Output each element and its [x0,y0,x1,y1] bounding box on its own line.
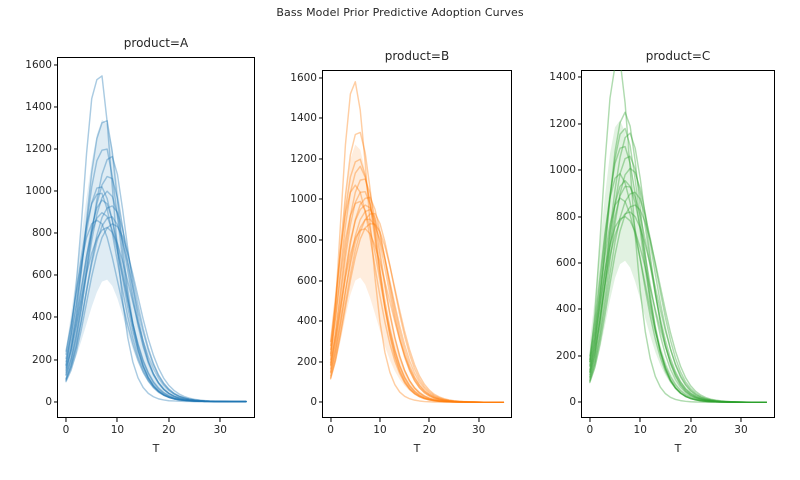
x-tick-mark [589,418,590,422]
y-tick-label: 1000 [549,164,581,176]
y-tick-label: 1000 [290,193,322,205]
subplot-panel-b: product=B0200400600800100012001400160001… [322,70,512,418]
subplot-title: product=B [322,49,512,63]
x-tick-mark [330,418,331,422]
x-tick-mark [168,418,169,422]
y-tick-label: 1400 [549,71,581,83]
x-tick-label: 20 [684,424,697,436]
subplot-panel-c: product=C0200400600800100012001400010203… [581,70,775,418]
subplot-panel-a: product=A0200400600800100012001400160001… [57,57,255,418]
subplot-title: product=A [57,36,255,50]
y-tick-label: 1200 [25,143,57,155]
x-tick-label: 30 [472,424,485,436]
x-tick-mark [478,418,479,422]
y-tick-label: 1200 [549,118,581,130]
figure-canvas: Bass Model Prior Predictive Adoption Cur… [0,0,800,480]
credible-band [331,145,504,403]
x-tick-mark [65,418,66,422]
subplot-title: product=C [581,49,775,63]
x-axis-label: T [322,442,512,455]
x-tick-label: 20 [162,424,175,436]
curves-layer [57,57,255,418]
curves-layer [322,70,512,418]
x-tick-label: 30 [214,424,227,436]
curves-layer [581,70,775,418]
x-tick-mark [220,418,221,422]
figure-suptitle: Bass Model Prior Predictive Adoption Cur… [0,6,800,19]
x-tick-mark [117,418,118,422]
y-tick-label: 1200 [290,153,322,165]
x-tick-label: 30 [734,424,747,436]
x-tick-label: 0 [327,424,334,436]
x-tick-label: 0 [63,424,70,436]
x-tick-label: 0 [586,424,593,436]
x-tick-label: 10 [111,424,124,436]
x-tick-label: 20 [423,424,436,436]
y-tick-label: 1000 [25,185,57,197]
x-tick-mark [740,418,741,422]
x-tick-mark [379,418,380,422]
x-tick-mark [690,418,691,422]
y-tick-label: 1400 [290,112,322,124]
x-tick-label: 10 [373,424,386,436]
y-tick-label: 1600 [25,59,57,71]
x-tick-label: 10 [634,424,647,436]
x-axis-label: T [581,442,775,455]
y-tick-label: 1600 [290,72,322,84]
x-axis-label: T [57,442,255,455]
x-tick-mark [429,418,430,422]
y-tick-label: 1400 [25,101,57,113]
x-tick-mark [640,418,641,422]
